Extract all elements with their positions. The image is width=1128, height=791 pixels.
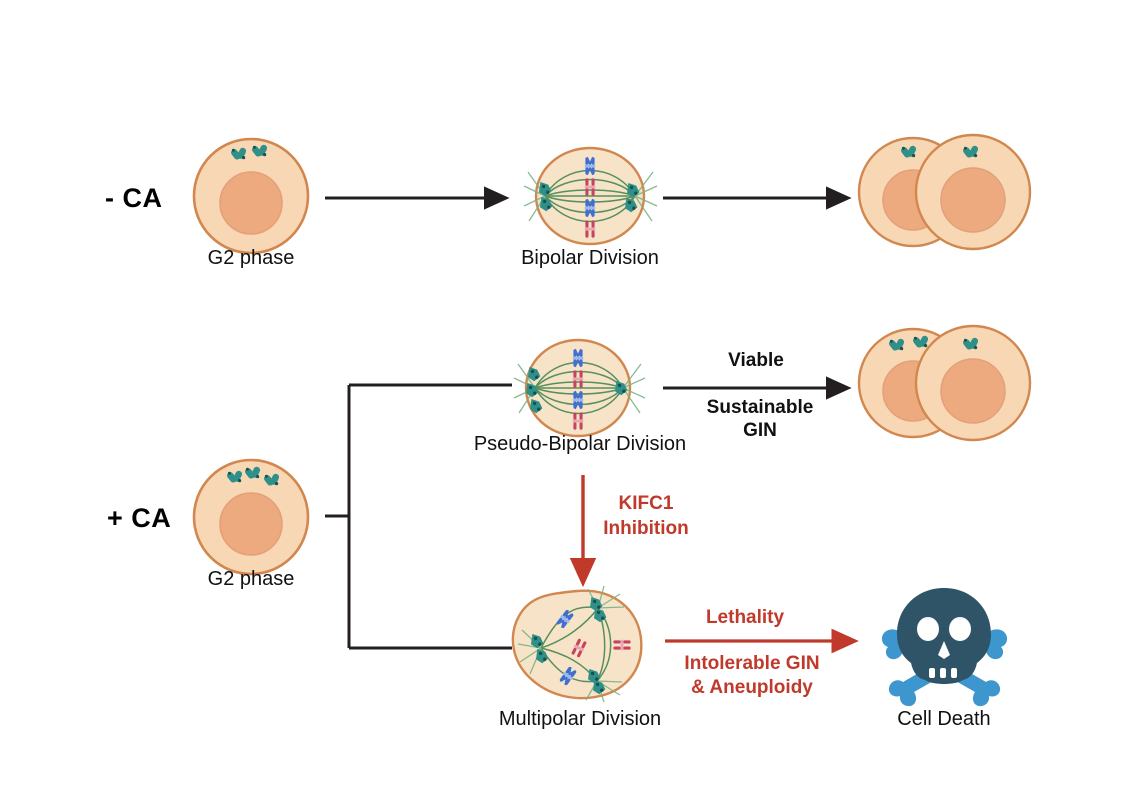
annotation-kifc1-line1: KIFC1	[619, 493, 674, 514]
caption-bipolar: Bipolar Division	[521, 247, 659, 270]
cell-g2-minus	[194, 139, 308, 253]
cell-pseudo-bipolar-division	[514, 340, 645, 436]
caption-g2-minus: G2 phase	[208, 247, 295, 270]
annotation-intolerable-line1: Intolerable GIN	[684, 653, 819, 674]
annotation-intolerable-line2: & Aneuploidy	[691, 677, 813, 698]
branch-connector	[325, 385, 512, 648]
caption-cell-death: Cell Death	[897, 708, 990, 731]
cell-multipolar-division	[513, 586, 641, 702]
annotation-kifc1-line2: Inhibition	[603, 518, 688, 539]
row-label-minus-ca: - CA	[105, 183, 163, 214]
cells-daughters-plus	[859, 326, 1030, 440]
cell-death-icon	[882, 588, 1007, 706]
annotation-sustainable-gin-line1: Sustainable	[707, 397, 814, 418]
row-label-plus-ca: + CA	[107, 503, 171, 534]
annotation-sustainable-gin-line2: GIN	[743, 420, 777, 441]
cell-g2-plus	[194, 460, 308, 574]
cell-bipolar-division	[524, 148, 657, 244]
pathway-artwork	[0, 0, 1128, 791]
caption-g2-plus: G2 phase	[208, 568, 295, 591]
annotation-lethality: Lethality	[706, 607, 784, 628]
caption-pseudo-bipolar: Pseudo-Bipolar Division	[474, 433, 686, 456]
caption-multipolar: Multipolar Division	[499, 708, 661, 731]
diagram-canvas: - CA + CA G2 phase Bipolar Division G2 p…	[0, 0, 1128, 791]
annotation-viable: Viable	[728, 350, 784, 371]
cells-daughters-minus	[859, 135, 1030, 249]
